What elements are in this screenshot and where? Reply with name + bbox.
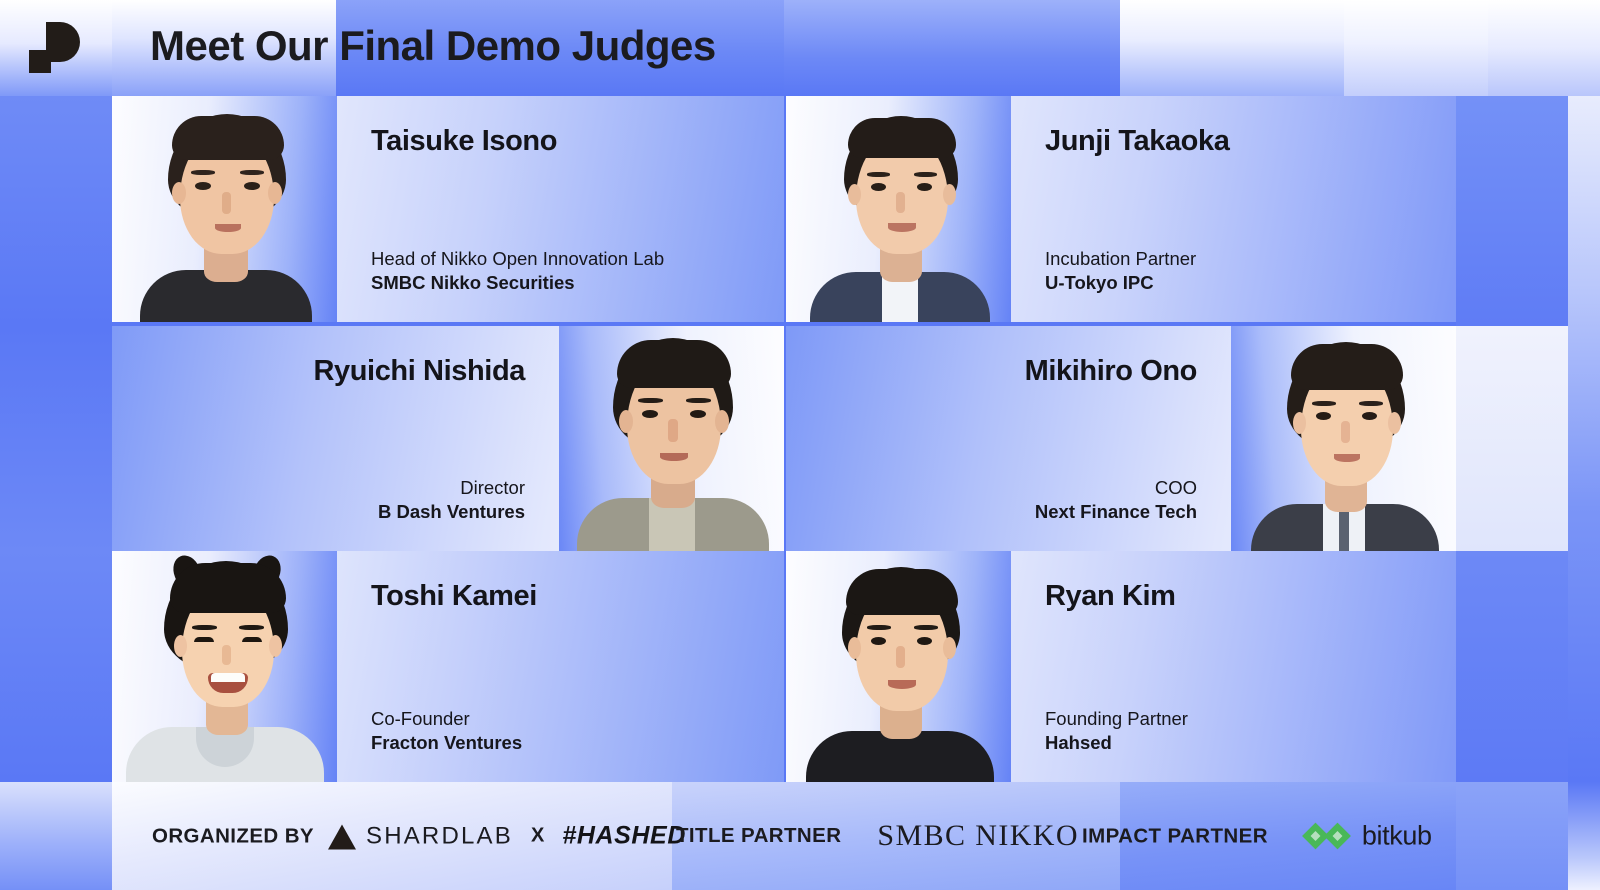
hashed-logo[interactable]: #HASHED <box>562 822 686 851</box>
judge-photo <box>112 551 337 782</box>
p-mark-logo-icon <box>28 20 84 76</box>
bg-tile <box>0 326 112 551</box>
bg-tile <box>0 551 112 782</box>
judge-role: COO <box>1035 476 1197 501</box>
judge-meta: COO Next Finance Tech <box>1035 476 1197 525</box>
page-title: Meet Our Final Demo Judges <box>150 22 716 70</box>
slide-header: Meet Our Final Demo Judges <box>0 0 1600 96</box>
judge-org: Next Finance Tech <box>1035 500 1197 525</box>
judge-role: Director <box>378 476 525 501</box>
judge-photo <box>786 96 1011 322</box>
judge-card[interactable]: Mikihiro Ono COO Next Finance Tech <box>786 326 1456 551</box>
impact-partner-group: IMPACT PARTNER bitkub <box>1082 821 1432 852</box>
judge-card[interactable]: Ryuichi Nishida Director B Dash Ventures <box>112 326 784 551</box>
bg-tile <box>1456 551 1568 782</box>
judge-name: Toshi Kamei <box>371 581 537 613</box>
judge-org: Hahsed <box>1045 731 1188 756</box>
bg-tile <box>1568 96 1600 782</box>
judge-role: Founding Partner <box>1045 707 1188 732</box>
bg-tile <box>1456 96 1568 326</box>
title-partner-label: TITLE PARTNER <box>676 824 841 848</box>
smbc-nikko-name: SMBC NIKKO <box>877 819 1079 853</box>
judge-meta: Founding Partner Hahsed <box>1045 707 1188 756</box>
judge-photo <box>1231 326 1456 551</box>
partners-footer: ORGANIZED BY SHARDLAB X #HASHED TITLE PA… <box>0 782 1600 890</box>
judge-card[interactable]: Taisuke Isono Head of Nikko Open Innovat… <box>112 96 784 322</box>
judge-org: U-Tokyo IPC <box>1045 271 1196 296</box>
judge-meta: Co-Founder Fracton Ventures <box>371 707 522 756</box>
judge-role: Co-Founder <box>371 707 522 732</box>
judge-photo <box>559 326 784 551</box>
judge-name: Mikihiro Ono <box>1025 356 1197 388</box>
smbc-nikko-logo[interactable]: SMBC NIKKO <box>877 819 1079 853</box>
judge-role: Incubation Partner <box>1045 247 1196 272</box>
bg-tile <box>1456 326 1568 551</box>
judge-card[interactable]: Toshi Kamei Co-Founder Fracton Ventures <box>112 551 784 782</box>
title-partner-group: TITLE PARTNER SMBC NIKKO <box>676 819 1079 853</box>
judge-card[interactable]: Ryan Kim Founding Partner Hahsed <box>786 551 1456 782</box>
bitkub-name: bitkub <box>1362 821 1432 852</box>
shardlab-name: SHARDLAB <box>366 822 513 850</box>
judge-name: Ryuichi Nishida <box>313 356 525 388</box>
shardlab-logo[interactable]: SHARDLAB <box>328 822 513 850</box>
judge-photo <box>786 551 1011 782</box>
organized-by-group: ORGANIZED BY SHARDLAB X #HASHED <box>152 822 686 851</box>
organized-by-label: ORGANIZED BY <box>152 824 314 848</box>
judge-name: Ryan Kim <box>1045 581 1176 613</box>
bitkub-logo[interactable]: bitkub <box>1306 821 1432 852</box>
judge-org: Fracton Ventures <box>371 731 522 756</box>
judge-photo <box>112 96 337 322</box>
bitkub-diamond-icon <box>1306 822 1352 850</box>
judge-card[interactable]: Junji Takaoka Incubation Partner U-Tokyo… <box>786 96 1456 322</box>
slide-canvas: Meet Our Final Demo Judges Tai <box>0 0 1600 890</box>
judge-meta: Director B Dash Ventures <box>378 476 525 525</box>
bg-tile <box>0 96 112 326</box>
judge-org: SMBC Nikko Securities <box>371 271 664 296</box>
x-separator: X <box>531 825 544 848</box>
impact-partner-label: IMPACT PARTNER <box>1082 824 1268 848</box>
hashed-name: #HASHED <box>562 822 686 851</box>
judge-meta: Head of Nikko Open Innovation Lab SMBC N… <box>371 247 664 296</box>
judge-meta: Incubation Partner U-Tokyo IPC <box>1045 247 1196 296</box>
triangle-icon <box>328 825 356 850</box>
judge-name: Junji Takaoka <box>1045 126 1229 158</box>
judge-role: Head of Nikko Open Innovation Lab <box>371 247 664 272</box>
judge-org: B Dash Ventures <box>378 500 525 525</box>
judge-name: Taisuke Isono <box>371 126 557 158</box>
